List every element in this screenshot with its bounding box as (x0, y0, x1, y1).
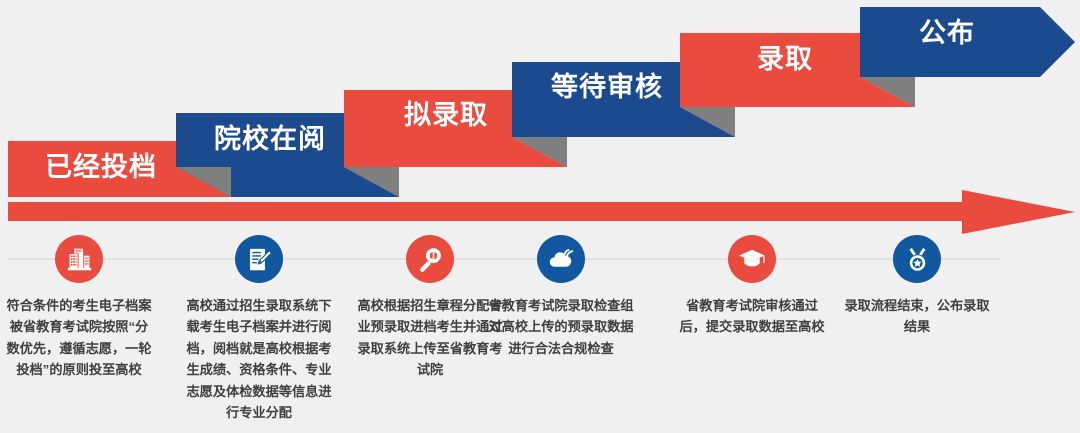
building-icon (66, 246, 93, 273)
step-3-caption: 高校根据招生章程分配专业预录取进档考生并通过录取系统上传至省教育考试院 (355, 295, 505, 381)
step-4-caption: 省教育考试院录取检查组对高校上传的预录取数据进行合法合规检查 (486, 295, 636, 359)
step-6-icon-circle[interactable] (893, 235, 941, 283)
step-6-label: 公布 (919, 20, 975, 47)
document-pen-icon (246, 246, 273, 273)
cloud-signal-icon (547, 245, 575, 273)
step-2-icon-circle[interactable] (235, 235, 283, 283)
infographic-stage: 已经投档 院校在阅 拟录取 等待审核 录取 公布 (0, 0, 1080, 433)
magnifier-icon (417, 246, 444, 273)
step-5-caption: 省教育考试院审核通过后，提交录取数据至高校 (677, 295, 827, 338)
step-4-icon-circle[interactable] (537, 235, 585, 283)
graduation-cap-icon (738, 245, 766, 273)
step-2-caption: 高校通过招生录取系统下载考生电子档案并进行阅档，阅档就是高校根据考生成绩、资格条… (184, 295, 334, 423)
step-5-icon-circle[interactable] (728, 235, 776, 283)
step-1-icon-circle[interactable] (55, 235, 103, 283)
step-2-label: 院校在阅 (214, 126, 326, 153)
medal-icon (904, 246, 931, 273)
step-1-label: 已经投档 (45, 154, 157, 181)
step-4-label: 等待审核 (551, 74, 663, 101)
step-6-caption: 录取流程结束，公布录取结果 (842, 295, 992, 338)
flow-graphics-layer (0, 0, 1080, 433)
step-5-label: 录取 (757, 46, 813, 73)
step-3-label: 拟录取 (404, 102, 488, 129)
step-1-caption: 符合条件的考生电子档案被省教育考试院按照“分数优先，遵循志愿，一轮投档”的原则投… (4, 295, 154, 381)
step-3-icon-circle[interactable] (406, 235, 454, 283)
